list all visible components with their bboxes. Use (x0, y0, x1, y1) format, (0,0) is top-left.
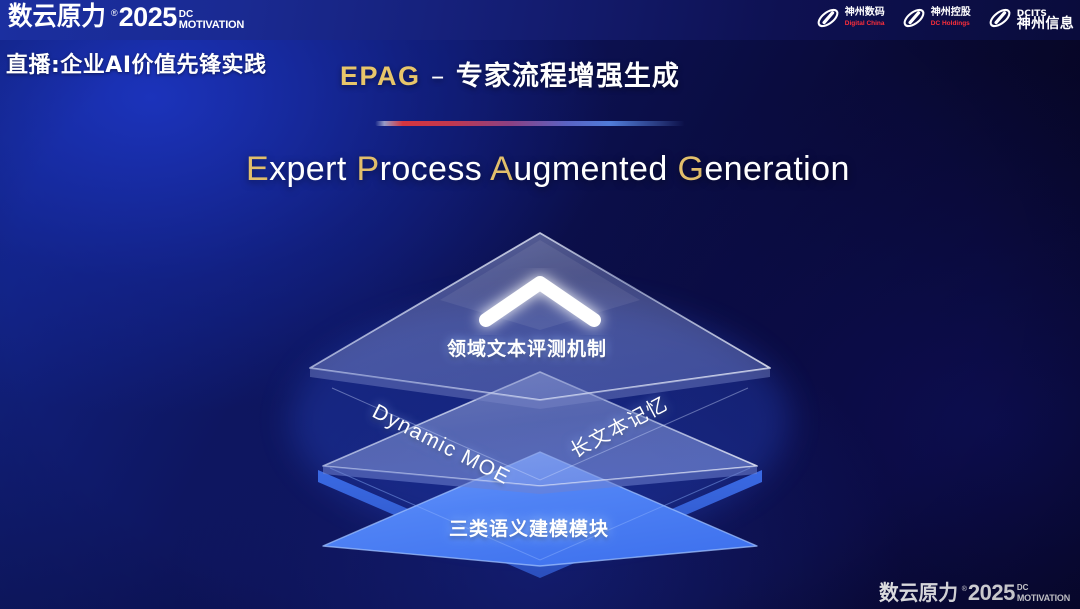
watermark-dc-motivation: DC MOTIVATION (1017, 583, 1070, 605)
slide-title-acronym: EPAG (340, 61, 421, 91)
subtitle-word-expert: Expert (246, 150, 347, 188)
brand-name-cn: 数云原力 (8, 2, 106, 32)
brand-year: 2025 (119, 3, 177, 32)
subtitle-word-generation: Generation (678, 150, 850, 188)
slide-subtitle: Expert Process Augmented Generation (246, 150, 850, 189)
watermark-brand-cn: 数云原力 (879, 581, 958, 605)
watermark-registered-mark: ® (962, 585, 967, 594)
live-stream-tag: 直播:企业AI价值先锋实践 (6, 47, 267, 79)
logo-digital-china-cn: 神州数码 (845, 8, 885, 18)
swirl-logo-icon (901, 5, 927, 31)
swirl-logo-icon (987, 5, 1013, 31)
layer-top-label: 领域文本评测机制 (447, 334, 607, 361)
corner-watermark: 数云原力 ® 2025 DC MOTIVATION (879, 581, 1070, 605)
swirl-logo-icon (815, 5, 841, 31)
slide-title-dash: – (431, 61, 446, 92)
brand-registered-mark: ® (111, 9, 118, 18)
subtitle-word-process: Process (357, 150, 483, 188)
subtitle-word-augmented: Augmented (490, 150, 668, 188)
logo-dc-holdings[interactable]: 神州控股 DC Holdings (901, 5, 971, 31)
slide-canvas: 领域文本评测机制 Dynamic MOE 长文本记忆 三类语义建模模块 EPAG… (0, 0, 1080, 609)
slide-title: EPAG – 专家流程增强生成 (340, 54, 680, 93)
logo-dc-holdings-en: DC Holdings (931, 19, 971, 29)
brand-motivation-label: MOTIVATION (179, 20, 244, 30)
layer-top[interactable] (310, 233, 770, 409)
watermark-motivation-label: MOTIVATION (1017, 593, 1070, 603)
watermark-year: 2025 (968, 581, 1015, 605)
top-banner: 数云原力 ® 2025 DC MOTIVATION 神州数码 Digital C… (0, 0, 1080, 40)
event-brand-logo: 数云原力 ® 2025 DC MOTIVATION (8, 2, 244, 32)
logo-digital-china[interactable]: 神州数码 Digital China (815, 5, 885, 31)
logo-dc-holdings-cn: 神州控股 (931, 8, 971, 18)
logo-dcits[interactable]: DCITS 神州信息 (987, 5, 1074, 31)
watermark-dc-label: DC (1017, 583, 1070, 593)
brand-dc-motivation: DC MOTIVATION (179, 10, 244, 32)
logo-dcits-cn: 神州信息 (1017, 19, 1074, 29)
logo-digital-china-en: Digital China (845, 19, 885, 29)
layer-bottom-label: 三类语义建模模块 (449, 514, 609, 541)
title-divider-bar (375, 121, 685, 126)
slide-title-chinese: 专家流程增强生成 (456, 61, 680, 92)
partner-logos: 神州数码 Digital China 神州控股 DC Holdings (815, 5, 1074, 31)
